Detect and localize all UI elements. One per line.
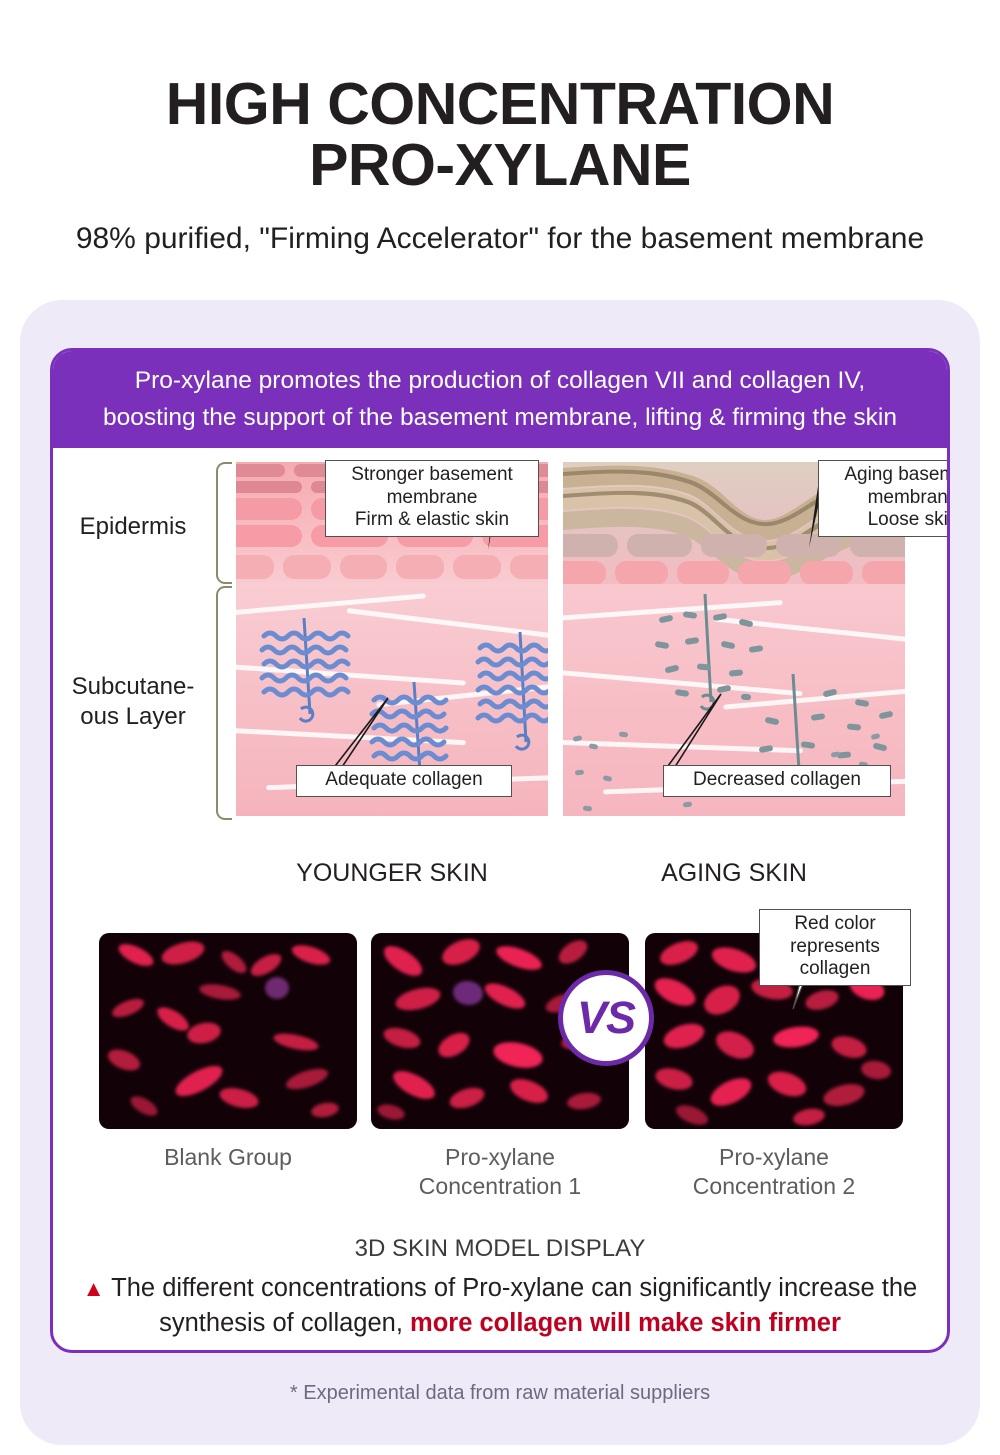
caption-aging-skin: AGING SKIN <box>563 859 905 888</box>
bracket-subcutaneous <box>216 586 232 820</box>
conclusion-text: ▲ The different concentrations of Pro-xy… <box>65 1271 935 1340</box>
microscopy-caption-blank: Blank Group <box>99 1143 357 1172</box>
card-banner-line1: Pro-xylane promotes the production of co… <box>58 362 942 399</box>
page-header: HIGH CONCENTRATION PRO-XYLANE 98% purifi… <box>0 0 1000 256</box>
callout-decreased-collagen: Decreased collagen <box>663 765 891 797</box>
page-title-line2: PRO-XYLANE <box>0 135 1000 196</box>
layer-label-epidermis: Epidermis <box>53 512 213 542</box>
vs-badge: VS <box>558 970 654 1066</box>
conclusion-text-highlight: more collagen will make skin firmer <box>410 1309 841 1337</box>
skin-layer-labels: Epidermis Subcutane- ous Layer <box>53 452 213 810</box>
leader-line-red-color <box>775 979 835 1023</box>
callout-red-color: Red color represents collagen <box>759 909 911 986</box>
page-subtitle: 98% purified, "Firming Accelerator" for … <box>0 222 1000 256</box>
microscopy-image-blank <box>99 933 357 1129</box>
callout-stronger-membrane: Stronger basement membrane Firm & elasti… <box>325 460 539 537</box>
model-display-label: 3D SKIN MODEL DISPLAY <box>53 1235 947 1263</box>
microscopy-row: Red color represents collagen <box>99 933 903 1129</box>
callout-aging-membrane: Aging basement membrane Loose skin <box>818 460 950 537</box>
layer-label-subcutaneous: Subcutane- ous Layer <box>53 672 213 732</box>
footnote: * Experimental data from raw material su… <box>20 1382 980 1405</box>
callout-adequate-collagen: Adequate collagen <box>296 765 512 797</box>
page-title-line1: HIGH CONCENTRATION <box>0 74 1000 135</box>
microscopy-caption-conc2: Pro-xylane Concentration 2 <box>645 1143 903 1201</box>
caption-younger-skin: YOUNGER SKIN <box>236 859 548 888</box>
skin-comparison-diagram: Epidermis Subcutane- ous Layer <box>53 452 947 810</box>
warning-triangle-icon: ▲ <box>83 1276 105 1301</box>
card-banner: Pro-xylane promotes the production of co… <box>50 348 950 448</box>
info-card: Pro-xylane promotes the production of co… <box>50 348 950 1353</box>
microscopy-caption-conc1: Pro-xylane Concentration 1 <box>371 1143 629 1201</box>
card-banner-line2: boosting the support of the basement mem… <box>58 399 942 436</box>
bracket-epidermis <box>216 462 232 584</box>
